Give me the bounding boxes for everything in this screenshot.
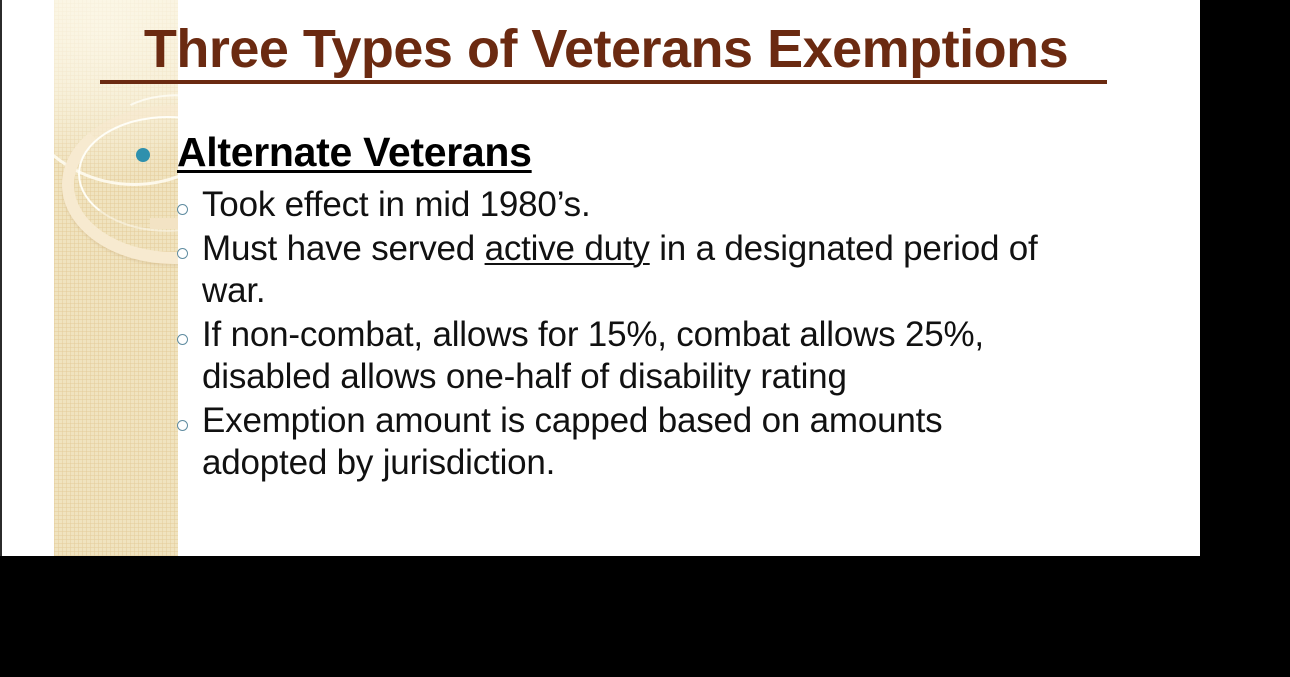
list-item: Must have served active duty in a design… <box>177 228 1136 312</box>
bullet-text-emphasis: active duty <box>485 229 650 268</box>
filled-disc-bullet-icon <box>136 148 150 162</box>
bullet-level2-label: Must have served active duty in a design… <box>202 228 1047 312</box>
title-underline-rule <box>100 80 1107 84</box>
list-item: Exemption amount is capped based on amou… <box>177 400 1136 484</box>
hollow-circle-bullet-icon <box>177 420 188 431</box>
hollow-circle-bullet-icon <box>177 204 188 215</box>
list-item: Alternate Veterans <box>136 126 1136 178</box>
slide-content-body: Alternate Veterans Took effect in mid 19… <box>136 126 1136 486</box>
slide-title-block: Three Types of Veterans Exemptions <box>100 20 1112 84</box>
bullet-text-before: Must have served <box>202 229 485 268</box>
hollow-circle-bullet-icon <box>177 248 188 259</box>
bullet-level1-label: Alternate Veterans <box>177 126 532 178</box>
bullet-level2-label: If non-combat, allows for 15%, combat al… <box>202 314 1047 398</box>
hollow-circle-bullet-icon <box>177 334 188 345</box>
bullet-level2-label: Took effect in mid 1980’s. <box>202 184 590 226</box>
page-title: Three Types of Veterans Exemptions <box>100 20 1112 78</box>
list-item: If non-combat, allows for 15%, combat al… <box>177 314 1136 398</box>
bullet-level2-label: Exemption amount is capped based on amou… <box>202 400 1047 484</box>
list-item: Took effect in mid 1980’s. <box>177 184 1136 226</box>
slide-canvas: Three Types of Veterans Exemptions Alter… <box>2 0 1200 556</box>
presentation-viewer: Three Types of Veterans Exemptions Alter… <box>0 0 1290 677</box>
